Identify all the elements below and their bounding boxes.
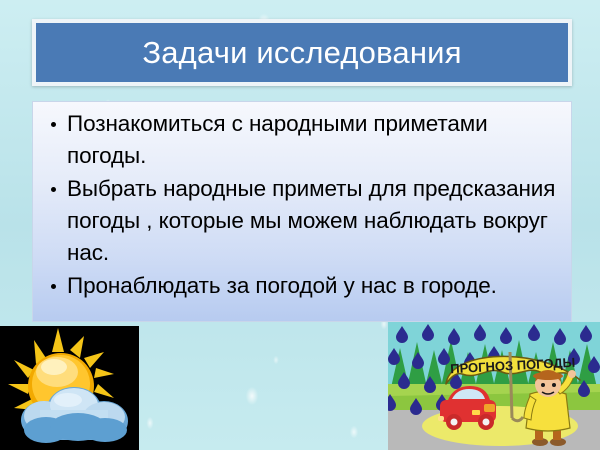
objectives-list: Познакомиться с народными приметами пого… [45, 108, 557, 302]
presentation-slide: Задачи исследования Познакомиться с наро… [0, 0, 600, 450]
sun-behind-cloud-image [0, 326, 139, 450]
list-item: Выбрать народные приметы для предсказани… [45, 173, 557, 269]
slide-title-banner: Задачи исследования [32, 19, 572, 86]
forecast-scene-icon: ПРОГНОЗ ПОГОДЫ [388, 322, 600, 450]
weather-forecast-image: ПРОГНОЗ ПОГОДЫ [388, 322, 600, 450]
slide-content-box: Познакомиться с народными приметами пого… [32, 101, 572, 322]
sun-cloud-icon [0, 326, 139, 450]
list-item: Познакомиться с народными приметами пого… [45, 108, 557, 172]
page-title: Задачи исследования [142, 37, 461, 68]
list-item: Пронаблюдать за погодой у нас в городе. [45, 270, 557, 302]
